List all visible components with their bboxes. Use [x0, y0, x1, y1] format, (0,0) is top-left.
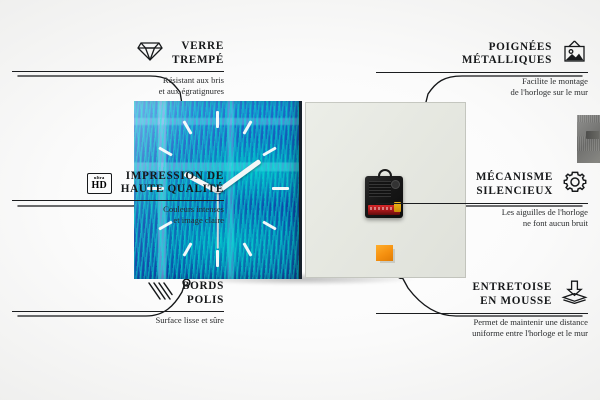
ultra-hd-badge-icon: ultra HD	[87, 173, 112, 194]
diamond-icon	[137, 40, 163, 67]
arrow-down-onto-layers-icon	[561, 280, 588, 309]
feature-title: BORDS POLIS	[182, 280, 224, 306]
feature-header: MÉCANISME SILENCIEUX	[376, 170, 588, 203]
tick-11	[182, 120, 192, 134]
feature-subtitle: Les aiguilles de l'horloge ne font aucun…	[376, 204, 588, 228]
feature-title: VERRE TREMPÉ	[172, 40, 224, 66]
feature-subtitle: Résistant aux bris et aux égratignures	[12, 72, 224, 96]
tick-2	[262, 146, 276, 156]
tick-3	[272, 187, 289, 190]
foam-spacer	[376, 245, 393, 261]
tick-4	[262, 220, 276, 230]
feature-header: ENTRETOISE EN MOUSSE	[376, 280, 588, 313]
metal-hanger-plate	[577, 115, 600, 163]
badge-hd-text: HD	[92, 181, 107, 191]
tick-7	[182, 242, 192, 256]
feature-entretoise-en-mousse: ENTRETOISE EN MOUSSE Permet de maintenir…	[376, 280, 588, 338]
polished-edges-icon	[147, 280, 173, 307]
feature-title: IMPRESSION DE HAUTE QUALITÉ	[121, 170, 224, 196]
feature-impression-hd: ultra HD IMPRESSION DE HAUTE QUALITÉ Cou…	[12, 170, 224, 226]
feature-header: VERRE TREMPÉ	[12, 40, 224, 71]
feature-subtitle: Permet de maintenir une distance uniform…	[376, 314, 588, 338]
feature-title: ENTRETOISE EN MOUSSE	[472, 281, 552, 307]
feature-header: POIGNÉES MÉTALLIQUES	[376, 40, 588, 72]
tick-5	[242, 242, 252, 256]
feature-title: POIGNÉES MÉTALLIQUES	[462, 41, 552, 67]
feature-header: BORDS POLIS	[12, 280, 224, 311]
feature-subtitle: Couleurs intenses et image claire	[12, 201, 224, 225]
picture-frame-hanger-icon	[561, 40, 588, 68]
feature-bords-polis: BORDS POLIS Surface lisse et sûre	[12, 280, 224, 326]
feature-header: ultra HD IMPRESSION DE HAUTE QUALITÉ	[12, 170, 224, 200]
infographic-canvas: VERRE TREMPÉ Résistant aux bris et aux é…	[0, 0, 600, 400]
feature-mecanisme-silencieux: MÉCANISME SILENCIEUX Les aiguilles de l'…	[376, 170, 588, 228]
feature-subtitle: Facilite le montage de l'horloge sur le …	[376, 73, 588, 97]
tick-12	[216, 111, 219, 128]
feature-verre-trempe: VERRE TREMPÉ Résistant aux bris et aux é…	[12, 40, 224, 96]
hanger-slot	[586, 131, 600, 139]
tick-10	[158, 146, 172, 156]
feature-title: MÉCANISME SILENCIEUX	[476, 171, 553, 197]
tick-1	[242, 120, 252, 134]
feature-subtitle: Surface lisse et sûre	[12, 312, 224, 326]
gear-icon	[562, 170, 588, 199]
feature-poignees-metalliques: POIGNÉES MÉTALLIQUES Facilite le montage…	[376, 40, 588, 97]
tick-6	[216, 250, 219, 267]
